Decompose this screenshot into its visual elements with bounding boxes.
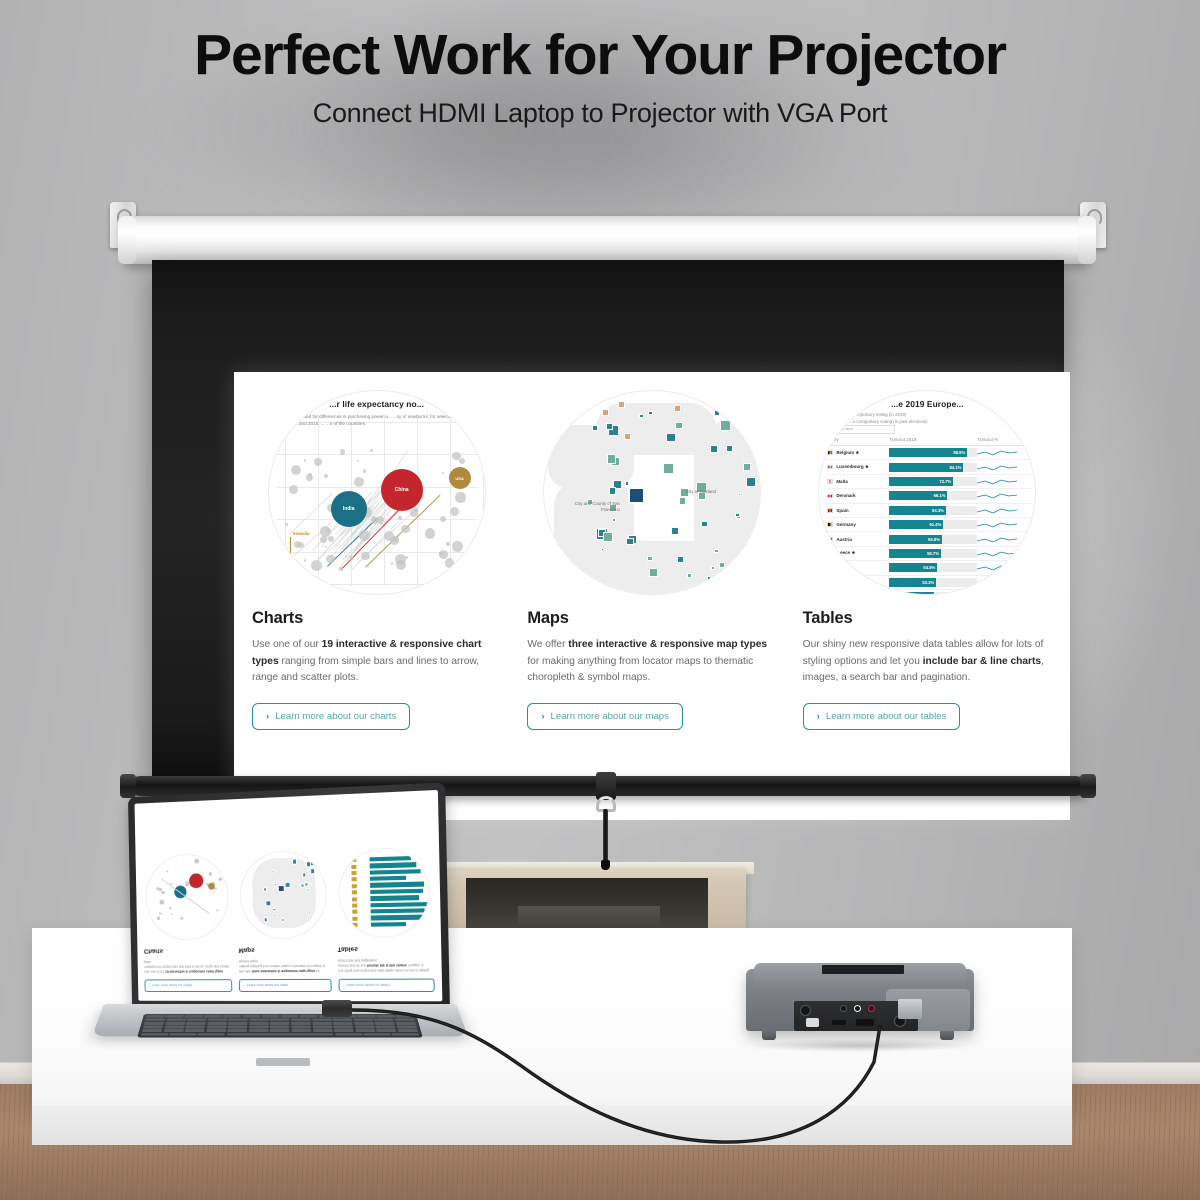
annotation-leader-line <box>290 537 291 565</box>
flag-icon <box>827 508 833 513</box>
turnout-sparkline <box>977 535 1017 544</box>
laptop: › Learn more about our charts Use one of… <box>104 790 456 1080</box>
country-name: Austria <box>836 537 852 542</box>
turnout-bar: 51.1% <box>889 592 977 595</box>
flag-icon <box>827 551 833 556</box>
page-title: Perfect Work for Your Projector <box>0 26 1200 86</box>
turnout-bar: 58.7% <box>889 549 977 558</box>
learn-more-charts-label: Learn more about our charts <box>275 711 396 722</box>
turnout-sparkline <box>977 463 1017 472</box>
table-body: Belgium ★88.5%Luxembourg ★84.1%Malta72.7… <box>827 446 1031 595</box>
pull-tip <box>601 860 610 870</box>
bubble-china: China <box>381 469 423 511</box>
laptop-learn-more-maps: › Learn more about our maps <box>239 979 331 992</box>
turnout-sparkline <box>977 578 1017 587</box>
learn-more-tables-label: Learn more about our tables <box>826 711 947 722</box>
pull-stem <box>603 809 608 867</box>
laptop-keyboard[interactable] <box>137 1014 423 1037</box>
table-row: Germany61.4% <box>827 518 1031 532</box>
learn-more-charts-button[interactable]: › Learn more about our charts <box>252 703 410 730</box>
table-row: Luxembourg ★84.1% <box>827 460 1031 474</box>
country-name: Germany <box>836 522 856 527</box>
roller-cap-left <box>118 216 136 264</box>
projector-foot-left <box>762 1031 776 1040</box>
flag-icon <box>827 465 833 470</box>
bottom-bar-end-right <box>1080 774 1096 798</box>
projector-foot-right <box>940 1031 954 1040</box>
projector-shadow <box>750 1039 968 1052</box>
map-label-oakland: City of Oakland <box>686 489 730 495</box>
turnout-bar: 72.7% <box>889 477 977 486</box>
turnout-sparkline <box>977 563 1017 572</box>
country-name: Denmark <box>836 493 855 498</box>
charts-thumb-title: ...r life expectancy no... <box>269 399 485 409</box>
hdmi-connector <box>322 1000 352 1017</box>
table-row: 54.5% <box>827 561 1031 575</box>
audio-port-right <box>868 1005 875 1012</box>
turnout-bar: 66.1% <box>889 491 977 500</box>
laptop-btn-label-charts: Learn more about our charts <box>152 984 192 988</box>
laptop-caption-charts <box>142 848 230 854</box>
tables-thumbnail: ...e 2019 Europe... ...mpulsory voting (… <box>818 390 1036 595</box>
table-header-row: ...ntry Turnout 2019 Turnout % <box>827 437 1031 446</box>
flag-icon <box>827 566 833 571</box>
screen-pull-handle[interactable] <box>592 796 620 868</box>
turnout-sparkline <box>977 549 1017 558</box>
laptop-trackpad[interactable] <box>256 1058 310 1066</box>
laptop-thumb-charts <box>144 853 229 941</box>
roller-cap-right <box>1078 216 1096 264</box>
turnout-sparkline <box>977 506 1017 515</box>
chevron-right-icon: › <box>149 984 150 988</box>
col-country: ...ntry <box>827 437 889 442</box>
charts-thumb-subtitle: ...ion adjusted for differences in purch… <box>283 413 475 427</box>
turnout-bar: 61.4% <box>889 520 977 529</box>
country-name: Malta <box>836 479 848 484</box>
laptop-body-charts: Use one of our 19 interactive & responsi… <box>144 959 232 974</box>
turnout-bar: 88.5% <box>889 448 977 457</box>
table-row: 53.3% <box>827 576 1031 590</box>
laptop-btn-label-tables: Learn more about our tables <box>346 983 390 987</box>
country-name: ...eece ★ <box>836 550 855 556</box>
laptop-learn-more-tables: › Learn more about our tables <box>338 979 435 992</box>
video-in-port <box>800 1005 811 1016</box>
card-heading-maps: Maps <box>527 609 780 628</box>
table-row: Denmark66.1% <box>827 489 1031 503</box>
bubble-usa: USA <box>449 467 471 489</box>
lan-port <box>806 1018 819 1027</box>
audio-port-left <box>854 1005 861 1012</box>
laptop-heading-charts: Charts <box>144 947 232 955</box>
projector-vent <box>822 965 904 974</box>
vga-port <box>856 1019 874 1026</box>
turnout-bar: 54.5% <box>889 563 977 572</box>
turnout-bar: 53.3% <box>889 578 977 587</box>
table-row: ...eece ★58.7% <box>827 547 1031 561</box>
laptop-lid: › Learn more about our charts Use one of… <box>128 782 450 1012</box>
turnout-bar: 84.1% <box>889 463 977 472</box>
map-label-san-francisco: City and County of San Francisco <box>560 501 620 512</box>
page-subtitle: Connect HDMI Laptop to Projector with VG… <box>0 98 1200 129</box>
charts-thumbnail: India China USA Somalia ...r life expect… <box>268 390 486 595</box>
laptop-heading-maps: Maps <box>238 946 330 954</box>
laptop-btn-label-maps: Learn more about our maps <box>247 984 288 988</box>
projector-device <box>736 955 986 1065</box>
laptop-mirrored-page: › Learn more about our charts Use one of… <box>135 790 443 1001</box>
projected-web-page: India China USA Somalia ...r life expect… <box>234 372 1070 820</box>
laptop-card-charts: › Learn more about our charts Use one of… <box>142 848 233 992</box>
flag-icon <box>827 450 833 455</box>
laptop-thumb-maps <box>239 850 327 940</box>
card-body-maps: We offer three interactive & responsive … <box>527 637 778 687</box>
turnout-table: ...ntry Turnout 2019 Turnout % Belgium ★… <box>827 437 1031 595</box>
card-tables: ...e 2019 Europe... ...mpulsory voting (… <box>799 390 1056 730</box>
flag-icon <box>827 494 833 499</box>
table-row: Austria59.8% <box>827 532 1031 546</box>
chevron-right-icon: › <box>817 711 820 722</box>
col-turnout-pct: Turnout % <box>977 437 1017 442</box>
card-body-charts: Use one of our 19 interactive & responsi… <box>252 637 503 687</box>
laptop-card-maps: › Learn more about our maps We offer thr… <box>236 845 331 992</box>
screen-surface: India China USA Somalia ...r life expect… <box>152 260 1064 780</box>
tables-legend-2: ...o compulsory voting (in past election… <box>849 419 927 424</box>
col-turnout: Turnout 2019 <box>889 437 977 442</box>
hdmi-port <box>832 1020 846 1025</box>
flag-icon <box>827 594 833 595</box>
desk-front-edge <box>32 1105 1072 1145</box>
learn-more-maps-label: Learn more about our maps <box>551 711 669 722</box>
turnout-bar: 64.3% <box>889 506 977 515</box>
chevron-right-icon: › <box>343 983 344 987</box>
laptop-screen: › Learn more about our charts Use one of… <box>135 790 443 1001</box>
laptop-learn-more-charts: › Learn more about our charts <box>144 979 232 992</box>
tables-search-input[interactable]: ...rch table <box>833 425 895 434</box>
annotation-somalia: Somalia <box>293 531 310 536</box>
table-row: Spain64.3% <box>827 504 1031 518</box>
country-name: Belgium ★ <box>836 450 859 456</box>
table-row: Malta72.7% <box>827 475 1031 489</box>
vga-connector-plugged <box>898 999 922 1019</box>
card-body-tables: Our shiny new responsive data tables all… <box>803 637 1054 687</box>
audio-port-1 <box>840 1005 847 1012</box>
learn-more-maps-button[interactable]: › Learn more about our maps <box>527 703 683 730</box>
laptop-caption-tables <box>335 841 431 847</box>
bubble-india: India <box>331 491 367 527</box>
maps-thumbnail: City and County of San Francisco City of… <box>543 390 761 595</box>
learn-more-tables-button[interactable]: › Learn more about our tables <box>803 703 961 730</box>
country-name: Luxembourg ★ <box>836 464 869 470</box>
table-row: 51.1% <box>827 590 1031 595</box>
laptop-card-row: › Learn more about our charts Use one of… <box>135 841 442 1001</box>
laptop-card-tables: › Learn more about our tables Our shiny … <box>335 841 434 992</box>
chevron-right-icon: › <box>244 984 245 988</box>
turnout-sparkline <box>977 477 1017 486</box>
card-maps: City and County of San Francisco City of… <box>523 390 780 730</box>
turnout-sparkline <box>977 491 1017 500</box>
chevron-right-icon: › <box>541 711 544 722</box>
header: Perfect Work for Your Projector Connect … <box>0 26 1200 129</box>
tables-legend-1: ...mpulsory voting (in 2019) <box>853 412 906 417</box>
card-charts: India China USA Somalia ...r life expect… <box>248 390 505 730</box>
card-row: India China USA Somalia ...r life expect… <box>234 372 1070 730</box>
flag-icon <box>827 522 833 527</box>
turnout-sparkline <box>977 520 1017 529</box>
laptop-body-tables: Our shiny new responsive data tables all… <box>338 957 435 973</box>
turnout-sparkline <box>977 448 1017 457</box>
flag-icon <box>827 537 833 542</box>
flag-icon <box>827 479 833 484</box>
turnout-sparkline <box>977 592 1017 595</box>
card-heading-tables: Tables <box>803 609 1056 628</box>
chevron-right-icon: › <box>266 711 269 722</box>
projector-screen-unit: India China USA Somalia ...r life expect… <box>108 198 1108 798</box>
laptop-caption-maps <box>236 845 328 851</box>
laptop-heading-tables: Tables <box>337 945 433 953</box>
turnout-bar: 59.8% <box>889 535 977 544</box>
laptop-thumb-tables <box>338 846 431 938</box>
screen-roller-housing <box>124 216 1090 264</box>
map-highlight-sf <box>628 487 645 504</box>
flag-icon <box>827 580 833 585</box>
country-name: Spain <box>836 508 848 513</box>
card-heading-charts: Charts <box>252 609 505 628</box>
tables-thumb-title: ...e 2019 Europe... <box>819 399 1035 409</box>
table-row: Belgium ★88.5% <box>827 446 1031 460</box>
laptop-body-maps: We offer three interactive & responsive … <box>239 958 331 973</box>
